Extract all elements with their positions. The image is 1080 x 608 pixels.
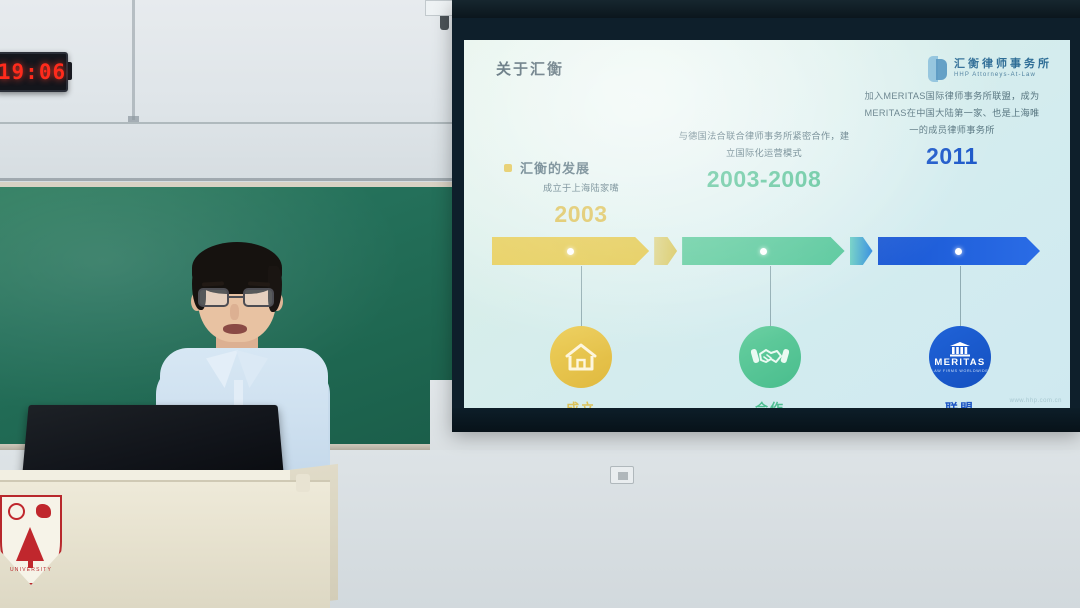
timeline-year-1: 2003 [492, 201, 670, 228]
timeline-item-1: 成立于上海陆家嘴 2003 [492, 180, 670, 228]
nose [230, 304, 239, 320]
podium-monitor[interactable] [22, 405, 284, 478]
meritas-building-icon [949, 341, 971, 357]
timeline-arrow-1 [492, 237, 649, 265]
handshake-icon-circle [739, 326, 801, 388]
wall-pipe [132, 0, 135, 120]
timeline-item-2: 与德国法合联合律师事务所紧密合作，建立国际化运营模式 2003-2008 [678, 128, 850, 193]
timeline-label-2: 合作 [725, 398, 815, 408]
timeline-desc-3: 加入MERITAS国际律师事务所联盟，成为MERITAS在中国大陆第一家、也是上… [864, 88, 1040, 139]
timeline-stem-2 [770, 266, 771, 328]
wall-clock: 19:06 [0, 52, 68, 92]
classroom-scene: 19:06 [0, 0, 1080, 608]
timeline-arrow-3 [878, 237, 1040, 265]
house-icon [564, 342, 598, 372]
wall-outlet [610, 466, 634, 484]
timeline-node-1 [567, 248, 574, 255]
timeline-node-3 [955, 248, 962, 255]
timeline-node-2 [760, 248, 767, 255]
podium-knob [296, 474, 310, 492]
slide-watermark: www.hhp.com.cn [1010, 398, 1062, 404]
crest-animal-icon [36, 504, 51, 518]
crest-label: UNIVERSITY [0, 567, 62, 573]
mouth [223, 324, 247, 334]
timeline-desc-2: 与德国法合联合律师事务所紧密合作，建立国际化运营模式 [678, 128, 850, 162]
timeline-stem-3 [960, 266, 961, 328]
glasses-bridge [229, 296, 245, 298]
university-crest: UNIVERSITY [0, 495, 62, 591]
projection-screen-roller [452, 0, 1080, 18]
crest-badge-icon [8, 503, 25, 520]
wall-seam-lower [0, 178, 470, 181]
timeline-connector-2-icon [850, 237, 873, 265]
ceiling-sensor-icon [440, 16, 449, 30]
lens-right [243, 288, 274, 307]
presentation-slide[interactable]: 关于汇衡 汇衡律师事务所 HHP Attorneys-At-Law 汇衡的发展 … [464, 40, 1070, 408]
timeline-year-2: 2003-2008 [678, 166, 850, 193]
timeline-arrow-bar [492, 236, 1040, 266]
meritas-logo-icon-circle: MERITAS LAW FIRMS WORLDWIDE [929, 326, 991, 388]
timeline-connector-1-icon [654, 237, 677, 265]
timeline-year-3: 2011 [864, 143, 1040, 170]
lens-left [198, 288, 229, 307]
timeline-desc-1: 成立于上海陆家嘴 [492, 180, 670, 197]
meritas-tagline: LAW FIRMS WORLDWIDE [932, 369, 989, 373]
timeline-label-3: 联盟 [915, 398, 1005, 408]
house-icon-circle [550, 326, 612, 388]
meritas-wordmark: MERITAS [934, 357, 985, 368]
handshake-icon [751, 343, 789, 371]
wall-seam [0, 122, 470, 124]
projection-screen-bottom-bar [452, 408, 1080, 432]
timeline-arrow-2 [682, 237, 844, 265]
timeline-label-1: 成立 [536, 398, 626, 408]
timeline-stem-1 [581, 266, 582, 328]
clock-time-display: 19:06 [0, 60, 66, 84]
timeline: 成立于上海陆家嘴 2003 与德国法合联合律师事务所紧密合作，建立国际化运营模式… [464, 40, 1070, 408]
timeline-item-3: 加入MERITAS国际律师事务所联盟，成为MERITAS在中国大陆第一家、也是上… [864, 88, 1040, 170]
crest-pine-tree-icon [16, 527, 44, 561]
